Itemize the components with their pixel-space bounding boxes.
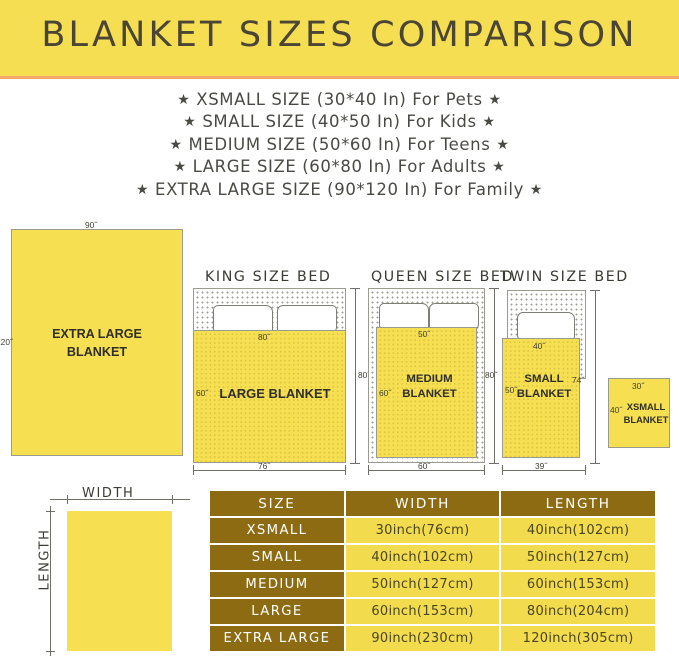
- star-icon: ★: [489, 92, 502, 108]
- twin-height-tick-bottom: [590, 463, 600, 464]
- wl-length-label: LENGTH: [38, 528, 53, 590]
- row-header-size: LARGE: [210, 599, 344, 624]
- cell-length: 50inch(127cm): [501, 545, 655, 570]
- header-banner: BLANKET SIZES COMPARISON: [0, 0, 679, 76]
- cell-length: 80inch(204cm): [501, 599, 655, 624]
- cell-width: 60inch(153cm): [346, 599, 499, 624]
- cell-length: 60inch(153cm): [501, 572, 655, 597]
- list-item: ★ LARGE SIZE (60*80 In) For Adults ★: [0, 156, 679, 178]
- twin-blanket-top-dim: 40˝: [533, 341, 545, 351]
- row-header-size: XSMALL: [210, 518, 344, 543]
- list-item-label: MEDIUM SIZE (50*60 In) For Teens: [189, 135, 491, 154]
- star-icon: ★: [183, 114, 196, 130]
- xsmall-top-dim: 30˝: [632, 381, 644, 391]
- small-blanket-label: SMALL BLANKET: [511, 372, 577, 402]
- list-item-label: LARGE SIZE (60*80 In) For Adults: [193, 157, 487, 176]
- cell-width: 90inch(230cm): [346, 626, 499, 651]
- twin-width-tick-left: [502, 465, 503, 475]
- king-height-tick-top: [350, 288, 360, 289]
- queen-blanket-top-dim: 50˝: [418, 329, 430, 339]
- extra-large-blanket-label: EXTRA LARGE BLANKET: [41, 325, 153, 361]
- column-header-size: SIZE: [210, 491, 344, 516]
- cell-width: 40inch(102cm): [346, 545, 499, 570]
- twin-width-tick-right: [585, 465, 586, 475]
- king-width-tick-left: [193, 465, 194, 475]
- king-blanket-top-dim: 80˝: [258, 332, 270, 342]
- large-blanket-label: LARGE BLANKET: [205, 385, 345, 402]
- list-item-label: EXTRA LARGE SIZE (90*120 In) For Family: [155, 180, 524, 199]
- king-height-dim-line: [355, 288, 356, 463]
- row-header-size: MEDIUM: [210, 572, 344, 597]
- twin-pillow: [517, 312, 575, 341]
- star-icon: ★: [174, 159, 187, 175]
- column-header-width: WIDTH: [346, 491, 499, 516]
- column-header-length: LENGTH: [501, 491, 655, 516]
- wl-width-tick-left: [67, 495, 68, 504]
- wl-width-label: WIDTH: [82, 486, 134, 501]
- queen-width-tick-right: [484, 465, 485, 475]
- king-bed-title: KING SIZE BED: [205, 269, 331, 285]
- twin-bed-title: TWIN SIZE BED: [500, 269, 629, 285]
- list-item: ★ EXTRA LARGE SIZE (90*120 In) For Famil…: [0, 179, 679, 201]
- list-item-label: SMALL SIZE (40*50 In) For Kids: [202, 112, 476, 131]
- cell-length: 120inch(305cm): [501, 626, 655, 651]
- cell-width: 30inch(76cm): [346, 518, 499, 543]
- medium-blanket-label: MEDIUM BLANKET: [387, 372, 472, 402]
- wl-length-tick-bottom: [46, 651, 55, 652]
- blanket-size-diagram: 90˝ 120˝ EXTRA LARGE BLANKET KING SIZE B…: [0, 215, 679, 480]
- table-row: XSMALL 30inch(76cm) 40inch(102cm): [210, 518, 655, 543]
- size-table: SIZE WIDTH LENGTH XSMALL 30inch(76cm) 40…: [208, 489, 657, 653]
- list-item: ★ MEDIUM SIZE (50*60 In) For Teens ★: [0, 134, 679, 156]
- twin-height-tick-top: [590, 290, 600, 291]
- twin-height-dim-line: [595, 290, 596, 463]
- page-title: BLANKET SIZES COMPARISON: [0, 15, 679, 55]
- cell-width: 50inch(127cm): [346, 572, 499, 597]
- queen-height-tick-bottom: [489, 463, 499, 464]
- twin-width-dim: 39˝: [535, 461, 547, 471]
- star-icon: ★: [170, 137, 183, 153]
- table-row: EXTRA LARGE 90inch(230cm) 120inch(305cm): [210, 626, 655, 651]
- row-header-size: EXTRA LARGE: [210, 626, 344, 651]
- queen-width-tick-left: [368, 465, 369, 475]
- king-width-tick-right: [345, 465, 346, 475]
- star-icon: ★: [530, 182, 543, 198]
- star-icon: ★: [177, 92, 190, 108]
- extra-large-side-dim: 120˝: [0, 337, 13, 347]
- queen-height-dim: 80˝: [485, 370, 497, 380]
- queen-bed-title: QUEEN SIZE BED: [371, 269, 514, 285]
- star-icon: ★: [483, 114, 496, 130]
- header-divider: [0, 76, 679, 79]
- list-item: ★ XSMALL SIZE (30*40 In) For Pets ★: [0, 89, 679, 111]
- table-row: SMALL 40inch(102cm) 50inch(127cm): [210, 545, 655, 570]
- width-length-figure: WIDTH LENGTH: [20, 488, 200, 663]
- list-item-label: XSMALL SIZE (30*40 In) For Pets: [196, 90, 482, 109]
- cell-length: 40inch(102cm): [501, 518, 655, 543]
- generic-blanket-shape: [67, 511, 172, 651]
- extra-large-top-dim: 90˝: [85, 220, 97, 230]
- star-icon: ★: [492, 159, 505, 175]
- wl-length-tick-top: [46, 511, 55, 512]
- table-row: LARGE 60inch(153cm) 80inch(204cm): [210, 599, 655, 624]
- star-icon: ★: [496, 137, 509, 153]
- twin-height-dim: 74˝: [572, 375, 584, 385]
- size-bullet-list: ★ XSMALL SIZE (30*40 In) For Pets ★ ★ SM…: [0, 89, 679, 201]
- star-icon: ★: [136, 182, 149, 198]
- wl-width-tick-right: [172, 495, 173, 504]
- row-header-size: SMALL: [210, 545, 344, 570]
- king-width-dim: 76˝: [258, 461, 270, 471]
- xsmall-blanket-label: XSMALL BLANKET: [621, 401, 671, 426]
- king-height-tick-bottom: [350, 463, 360, 464]
- list-item: ★ SMALL SIZE (40*50 In) For Kids ★: [0, 111, 679, 133]
- table-header-row: SIZE WIDTH LENGTH: [210, 491, 655, 516]
- queen-height-tick-top: [489, 288, 499, 289]
- table-row: MEDIUM 50inch(127cm) 60inch(153cm): [210, 572, 655, 597]
- queen-width-dim: 60˝: [418, 461, 430, 471]
